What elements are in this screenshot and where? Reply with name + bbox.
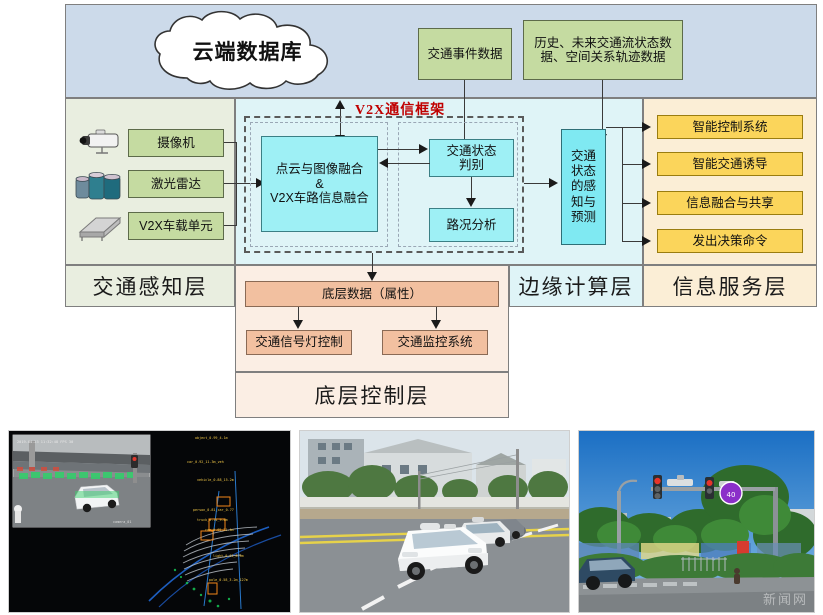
perception-prediction-box: 交通 状态 的感 知与 预测 [561, 129, 606, 245]
bottom-data-attributes-box: 底层数据（属性） [245, 281, 499, 307]
connector-state-to-road [471, 177, 472, 200]
perception-prediction-line-4: 知与 [571, 195, 596, 210]
connector-camera-bus [224, 142, 236, 143]
obu-box: V2X车载单元 [128, 212, 224, 240]
connector-v2x-to-perception [524, 183, 551, 184]
lidar-box: 激光雷达 [128, 170, 224, 198]
arrowhead-bus-to-guidance [642, 159, 651, 169]
fusion-label-line2: & [315, 177, 323, 191]
svg-text:car_0.92_11.3m_veh: car_0.92_11.3m_veh [187, 460, 224, 464]
system-architecture-diagram: 云端数据库 交通事件数据 历史、未来交通流状态数据、空间关系轨迹数据 V2X通信… [0, 0, 823, 425]
cloud-database-node: 云端数据库 [140, 8, 355, 94]
svg-text:vehicle_0.88_15.2m: vehicle_0.88_15.2m [197, 478, 234, 482]
photo-strip: object_0.99_4.1m car_0.92_11.3m_veh vehi… [0, 428, 823, 615]
info-service-layer-label: 信息服务层 [673, 271, 788, 301]
traffic-sensing-layer-label: 交通感知层 [93, 271, 208, 301]
arrowhead-edge-to-bottom-data [367, 272, 377, 281]
traffic-flow-history-data-box: 历史、未来交通流状态数据、空间关系轨迹数据 [523, 20, 683, 80]
issue-decision-command-label: 发出决策命令 [692, 234, 767, 248]
traffic-flow-history-data-label: 历史、未来交通流状态数据、空间关系轨迹数据 [528, 36, 678, 65]
traffic-event-data-label: 交通事件数据 [427, 47, 502, 61]
photo-camera-lidar-detection: object_0.99_4.1m car_0.92_11.3m_veh vehi… [8, 430, 291, 613]
intelligent-control-system-label: 智能控制系统 [692, 120, 767, 134]
connector-lidar-bus [224, 183, 236, 184]
arrowhead-bus-to-fusion-sharing [642, 198, 651, 208]
obu-icon [74, 212, 126, 244]
traffic-monitoring-system-box: 交通监控系统 [382, 330, 488, 355]
svg-text:2019-04-23 11:32:48 FPS 30: 2019-04-23 11:32:48 FPS 30 [17, 440, 73, 444]
info-fusion-sharing-label: 信息融合与共享 [686, 196, 774, 210]
bottom-control-layer-label: 底层控制层 [315, 380, 430, 410]
camera-box: 摄像机 [128, 129, 224, 157]
traffic-state-discrimination-label-line1: 交通状态 [446, 144, 496, 158]
bottom-data-attributes-label: 底层数据（属性） [322, 287, 422, 301]
arrowhead-bus-to-control [642, 122, 651, 132]
perception-prediction-line-1: 交通 [571, 149, 596, 164]
traffic-signal-control-label: 交通信号灯控制 [255, 335, 343, 349]
arrowhead-data-to-monitor [431, 320, 441, 329]
arrowhead-bus-to-decision [642, 236, 651, 246]
traffic-state-discrimination-box: 交通状态 判别 [429, 139, 514, 177]
intelligent-control-system-box: 智能控制系统 [657, 115, 803, 139]
intelligent-traffic-guidance-box: 智能交通诱导 [657, 152, 803, 176]
road-condition-analysis-box: 路况分析 [429, 208, 514, 242]
arrowhead-state-to-fusion [379, 158, 388, 168]
photo-test-vehicles-road [299, 430, 570, 613]
watermark-label: 新闻网 [763, 589, 808, 608]
lidar-label: 激光雷达 [151, 177, 201, 191]
arrowhead-v2x-cloud-up [335, 100, 345, 109]
issue-decision-command-box: 发出决策命令 [657, 229, 803, 253]
road-condition-analysis-label: 路况分析 [446, 218, 496, 232]
info-fusion-sharing-box: 信息融合与共享 [657, 191, 803, 215]
svg-text:pole_0.58_3.2m_127m: pole_0.58_3.2m_127m [209, 578, 248, 582]
svg-text:40: 40 [727, 491, 736, 499]
perception-prediction-line-2: 状态 [571, 164, 596, 179]
camera-icon [74, 128, 126, 158]
connector-state-to-fusion [388, 163, 430, 164]
svg-text:person_0.81_car_0.77: person_0.81_car_0.77 [193, 508, 234, 512]
perception-prediction-line-5: 预测 [571, 210, 596, 225]
traffic-state-discrimination-label-line2: 判别 [459, 158, 484, 172]
edge-computing-layer-label: 边缘计算层 [519, 271, 634, 301]
connector-fusion-to-state [378, 149, 421, 150]
photo-intersection-signals: 40 [578, 430, 815, 613]
connector-sensor-vertical-bus [236, 142, 237, 226]
fusion-label-line3: V2X车路信息融合 [270, 191, 369, 205]
connector-perception-to-bus [606, 127, 623, 128]
arrowhead-state-to-road [466, 198, 476, 207]
connector-service-vertical-bus [622, 127, 623, 241]
camera-label: 摄像机 [157, 136, 195, 150]
traffic-event-data-box: 交通事件数据 [418, 28, 512, 80]
intelligent-traffic-guidance-label: 智能交通诱导 [692, 157, 767, 171]
traffic-signal-control-box: 交通信号灯控制 [246, 330, 352, 355]
edge-computing-layer-label-panel: 边缘计算层 [509, 265, 643, 307]
arrowhead-data-to-signal [293, 320, 303, 329]
traffic-monitoring-system-label: 交通监控系统 [397, 335, 472, 349]
traffic-sensing-layer-label-panel: 交通感知层 [65, 265, 235, 307]
perception-prediction-line-3: 的感 [571, 179, 596, 194]
connector-bus-to-control [622, 127, 644, 128]
svg-text:object_0.99_4.1m: object_0.99_4.1m [195, 436, 228, 440]
cloud-database-label: 云端数据库 [140, 36, 355, 66]
arrowhead-v2x-to-perception [549, 178, 558, 188]
bottom-control-layer-label-panel: 底层控制层 [235, 372, 509, 418]
obu-label: V2X车载单元 [139, 219, 213, 233]
connector-bus-to-decision [622, 241, 644, 242]
svg-text:truck_0.74_9.6m: truck_0.74_9.6m [197, 518, 228, 522]
info-service-layer-label-panel: 信息服务层 [643, 265, 817, 307]
lidar-icon [74, 170, 126, 202]
fusion-box: 点云与图像融合 & V2X车路信息融合 [261, 136, 378, 232]
svg-text:light_0.63_8.9m: light_0.63_8.9m [213, 554, 244, 558]
svg-text:camera_01: camera_01 [113, 520, 131, 524]
svg-text:car_0.69_21.4m: car_0.69_21.4m [205, 528, 234, 532]
fusion-label-line1: 点云与图像融合 [276, 162, 364, 176]
connector-bus-to-fusion-sharing [622, 203, 644, 204]
connector-bus-to-guidance [622, 164, 644, 165]
connector-obu-bus [224, 225, 236, 226]
arrowhead-fusion-to-state [419, 144, 428, 154]
